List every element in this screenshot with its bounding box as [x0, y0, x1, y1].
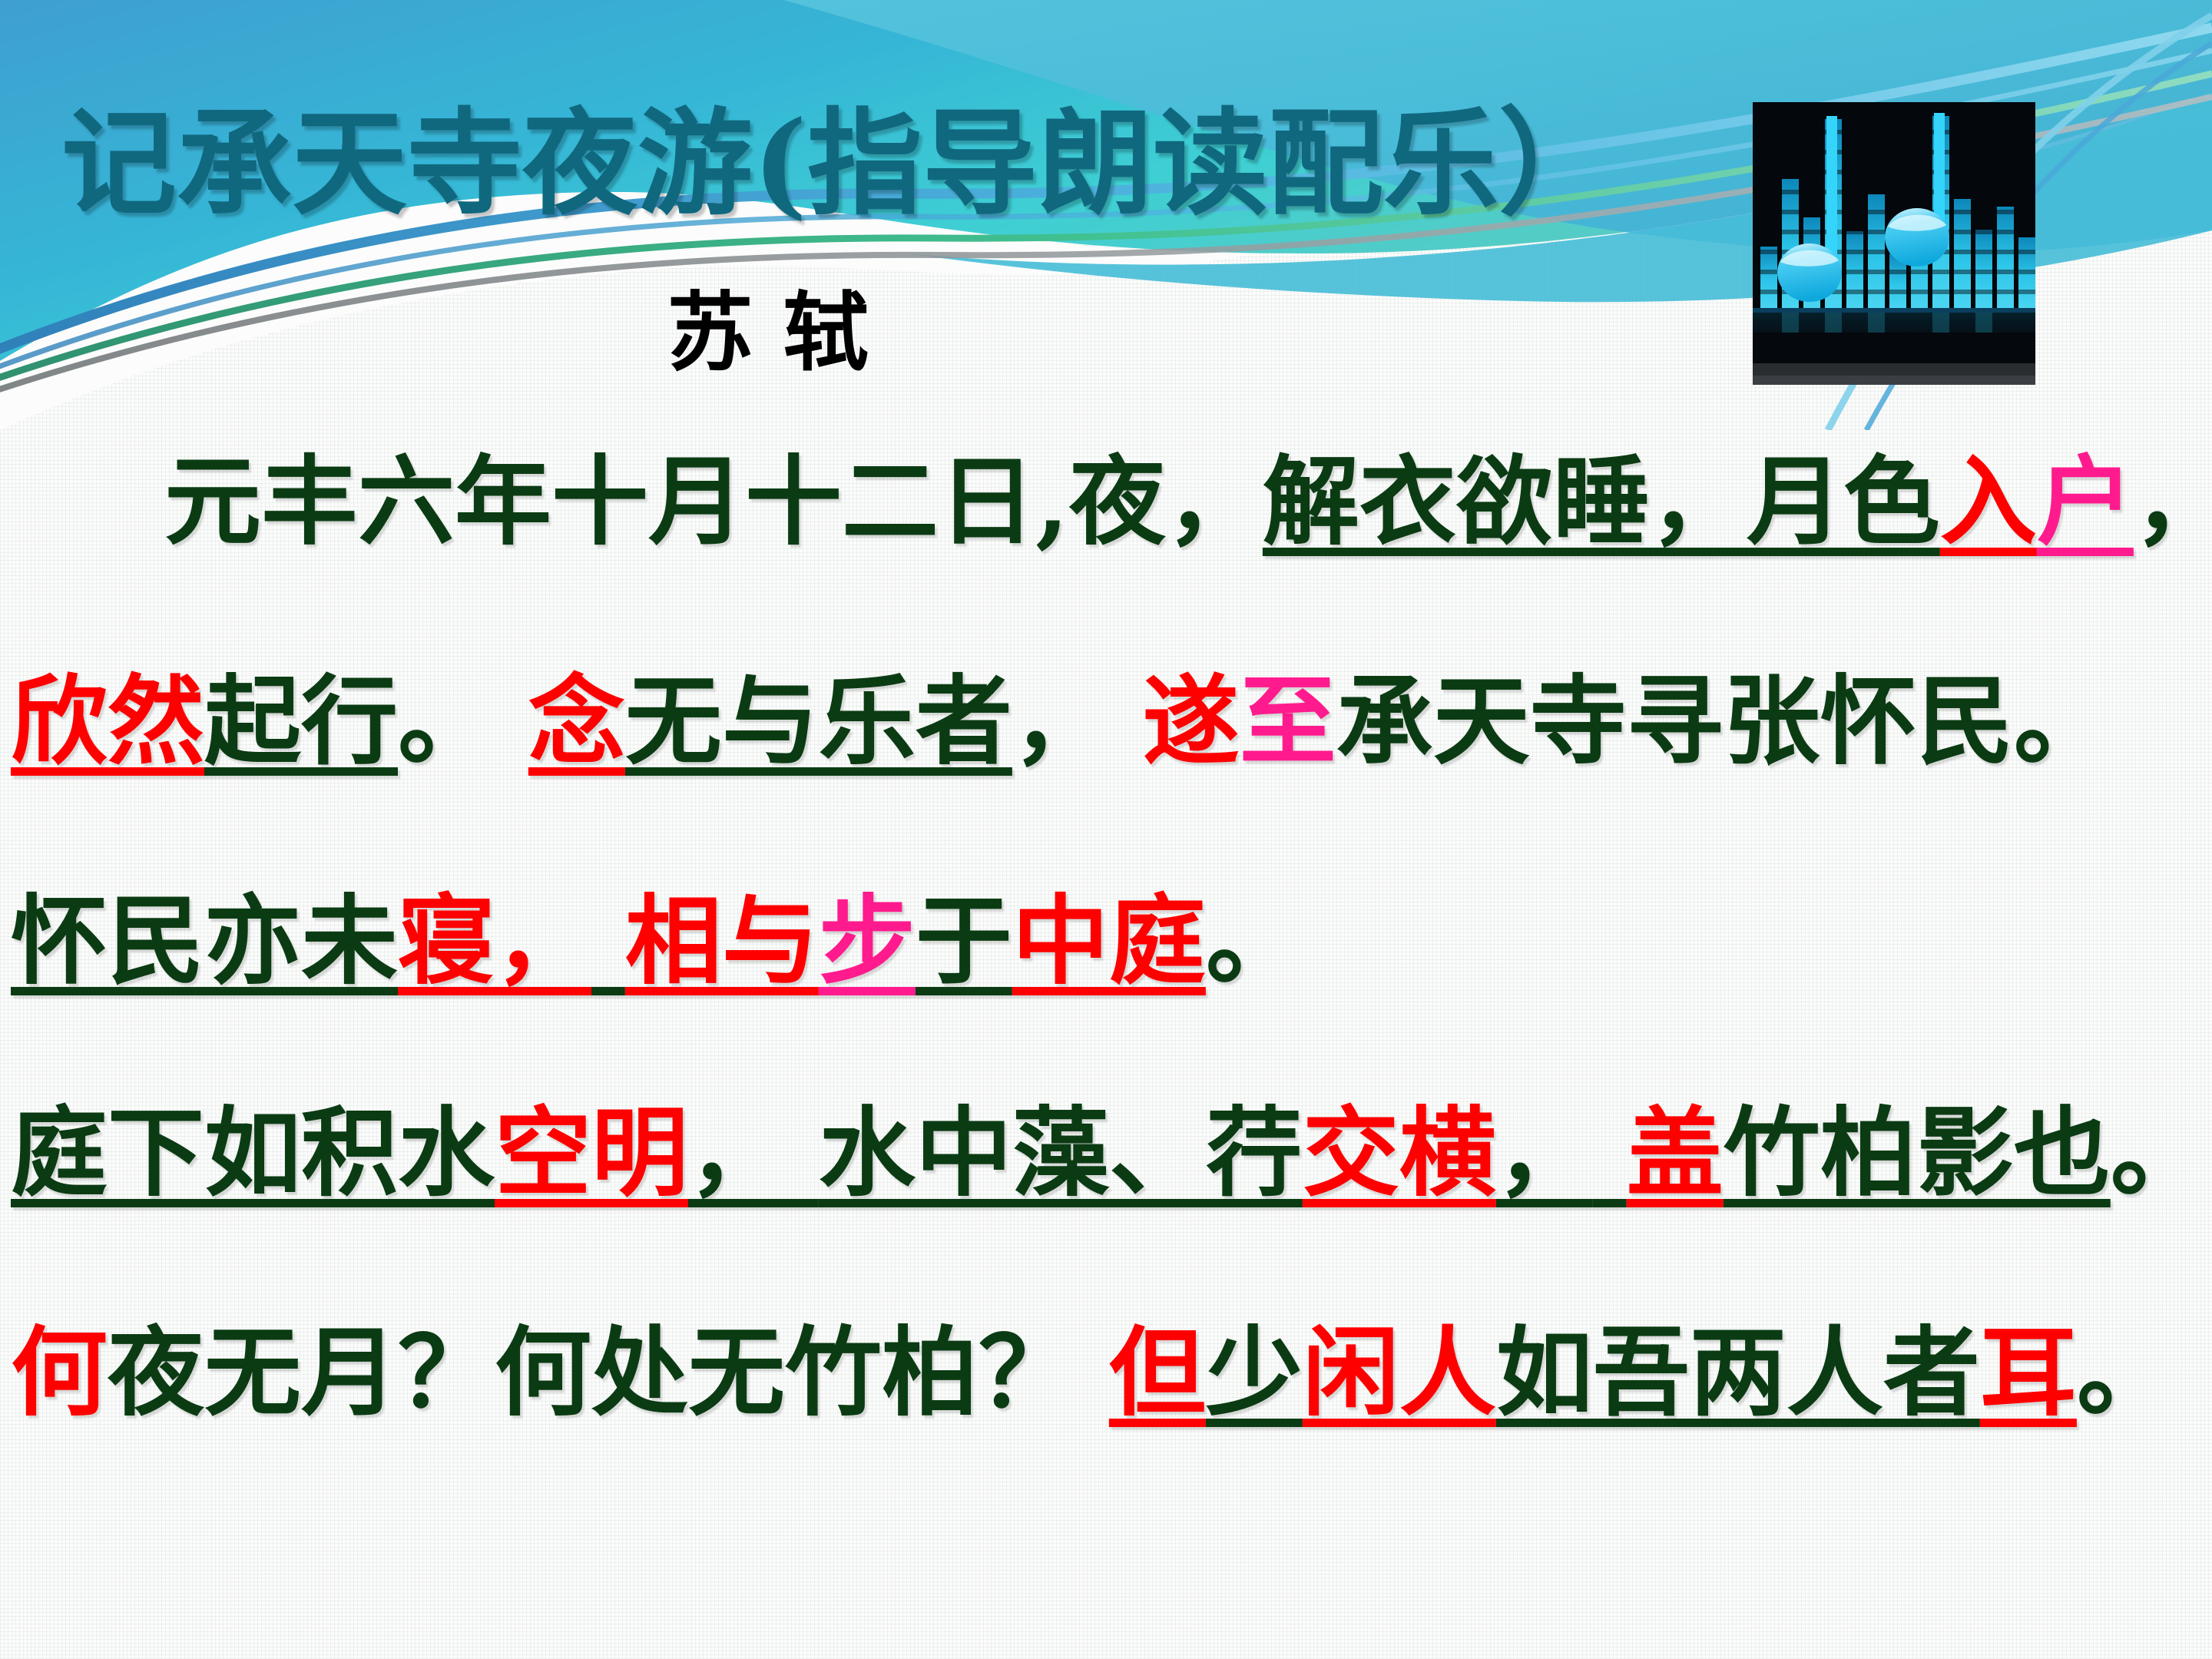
- text-run: [495, 664, 528, 778]
- text-run: 中庭: [1012, 884, 1206, 998]
- body-line-4: 庭下如积水空明， 水中藻、荇交横， 盖竹柏影也。: [11, 1104, 2212, 1201]
- body-line-5: 何夜无月？何处无竹柏？ 但少闲人如吾两人者耳。: [11, 1324, 2212, 1421]
- text-run: 于: [916, 884, 1012, 998]
- text-run: 欣然: [11, 664, 204, 778]
- text-run: 步: [819, 884, 916, 998]
- body-line-2: 欣然起行。 念无与乐者， 遂至承天寺寻张怀民。: [11, 673, 2212, 770]
- text-run: 。: [2077, 1316, 2174, 1429]
- text-run: 起行: [204, 664, 398, 778]
- text-run: ，: [688, 1096, 785, 1210]
- text-run: 闲人: [1303, 1316, 1496, 1429]
- text-run: 盖: [1627, 1096, 1724, 1210]
- slide-title: 记承天寺夜游(指导朗读配乐）: [61, 106, 1736, 221]
- text-run: ，: [1012, 664, 1109, 778]
- text-run: 怀民亦未: [11, 884, 398, 998]
- body-line-3: 怀民亦未寝， 相与步于中庭。: [11, 892, 2212, 989]
- presentation-slide: 记承天寺夜游(指导朗读配乐） 苏 轼: [0, 0, 2212, 1659]
- text-run: 何: [11, 1316, 108, 1429]
- text-run: 至: [1240, 664, 1336, 778]
- text-run: 夜无月？何处无竹柏？: [108, 1316, 1075, 1429]
- text-run: 如吾两人者: [1496, 1316, 1980, 1429]
- text-run: 空明: [495, 1096, 688, 1210]
- text-run: [1109, 664, 1143, 778]
- text-run: 户: [2037, 445, 2134, 558]
- text-run: 耳: [1980, 1316, 2077, 1429]
- text-run: 水中藻、荇: [819, 1096, 1303, 1210]
- music-equalizer-thumbnail[interactable]: [1753, 102, 2035, 385]
- text-run: 。: [398, 664, 495, 778]
- text-run: 寝，: [398, 884, 591, 998]
- text-run: 念: [528, 664, 625, 778]
- text-run: ，: [2134, 445, 2212, 558]
- text-run: 竹柏影也: [1724, 1096, 2111, 1210]
- text-run: 承天寺寻张怀民。: [1336, 664, 2111, 778]
- text-run: 但: [1109, 1316, 1206, 1429]
- text-run: 。: [2111, 1096, 2207, 1210]
- text-run: [591, 884, 625, 998]
- text-run: [1075, 1316, 1109, 1429]
- text-run: 无与乐者: [625, 664, 1012, 778]
- text-run: 少: [1206, 1316, 1303, 1429]
- text-run: 遂: [1143, 664, 1240, 778]
- body-line-1: 元丰六年十月十二日,夜，解衣欲睡，月色入户，: [164, 453, 2212, 550]
- author-name: 苏 轼: [0, 290, 1536, 376]
- text-run: 。: [1206, 884, 1303, 998]
- text-run: [785, 1096, 819, 1210]
- text-run: 庭下如积水: [11, 1096, 495, 1210]
- text-run: 元丰六年十月十二日,夜，: [164, 445, 1263, 558]
- slide-body: 元丰六年十月十二日,夜，解衣欲睡，月色入户， 欣然起行。 念无与乐者， 遂至承天…: [0, 430, 2212, 1421]
- text-run: ，: [1496, 1096, 1593, 1210]
- text-run: 入: [1940, 445, 2037, 558]
- text-run: 交横: [1303, 1096, 1496, 1210]
- text-run: 解衣欲睡，月色: [1263, 445, 1940, 558]
- text-run: 相与: [625, 884, 819, 998]
- text-run: [1593, 1096, 1627, 1210]
